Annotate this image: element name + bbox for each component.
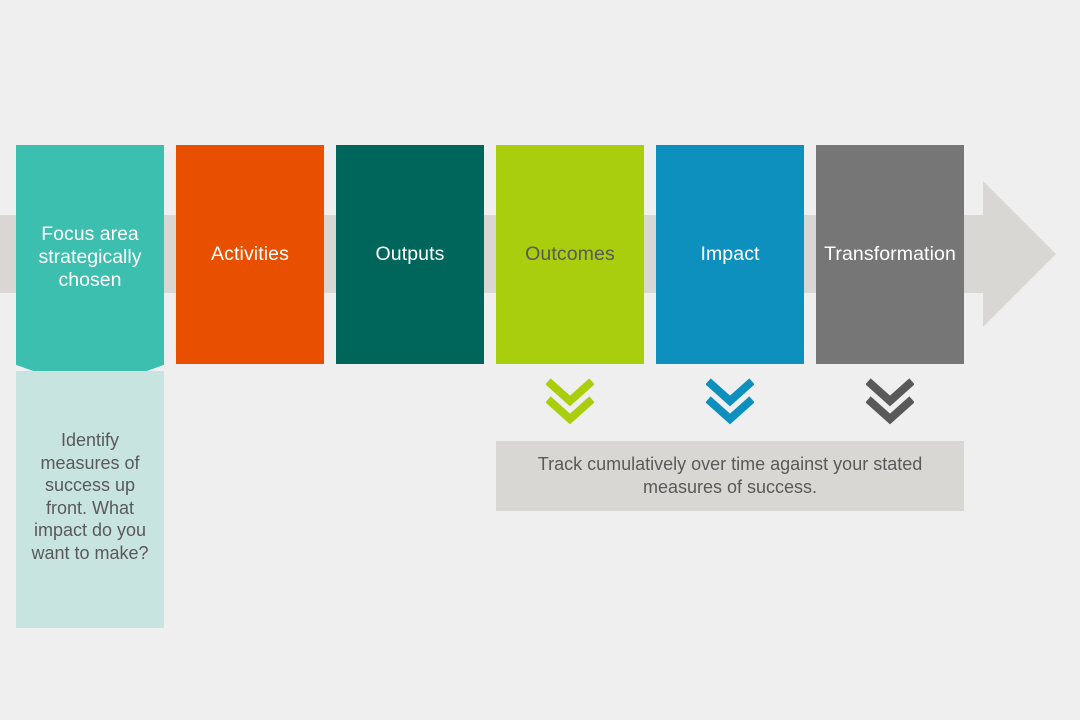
caption-text: Track cumulatively over time against you… bbox=[510, 453, 950, 499]
stage-label-outcomes: Outcomes bbox=[525, 243, 615, 266]
note-panel-measures-of-success: Identify measures of success up front. W… bbox=[16, 371, 164, 628]
double-chevron-down-icon-outcomes bbox=[546, 378, 594, 426]
stage-label-outputs: Outputs bbox=[376, 243, 445, 266]
stage-label-focus-area: Focus area strategically chosen bbox=[26, 223, 154, 292]
diagram-canvas: Focus area strategically chosen Identify… bbox=[0, 0, 1080, 720]
stage-box-outputs[interactable]: Outputs bbox=[336, 145, 484, 364]
stage-label-transformation: Transformation bbox=[824, 243, 956, 266]
stage-box-focus-area[interactable]: Focus area strategically chosen bbox=[16, 145, 164, 391]
stage-box-activities[interactable]: Activities bbox=[176, 145, 324, 364]
double-chevron-down-icon-transformation bbox=[866, 378, 914, 426]
stage-box-transformation[interactable]: Transformation bbox=[816, 145, 964, 364]
stage-label-impact: Impact bbox=[700, 243, 759, 266]
note-panel-text: Identify measures of success up front. W… bbox=[28, 429, 152, 564]
caption-track-cumulatively: Track cumulatively over time against you… bbox=[496, 441, 964, 511]
double-chevron-down-icon-impact bbox=[706, 378, 754, 426]
stage-box-impact[interactable]: Impact bbox=[656, 145, 804, 364]
stage-box-outcomes[interactable]: Outcomes bbox=[496, 145, 644, 364]
stage-label-activities: Activities bbox=[211, 243, 289, 266]
